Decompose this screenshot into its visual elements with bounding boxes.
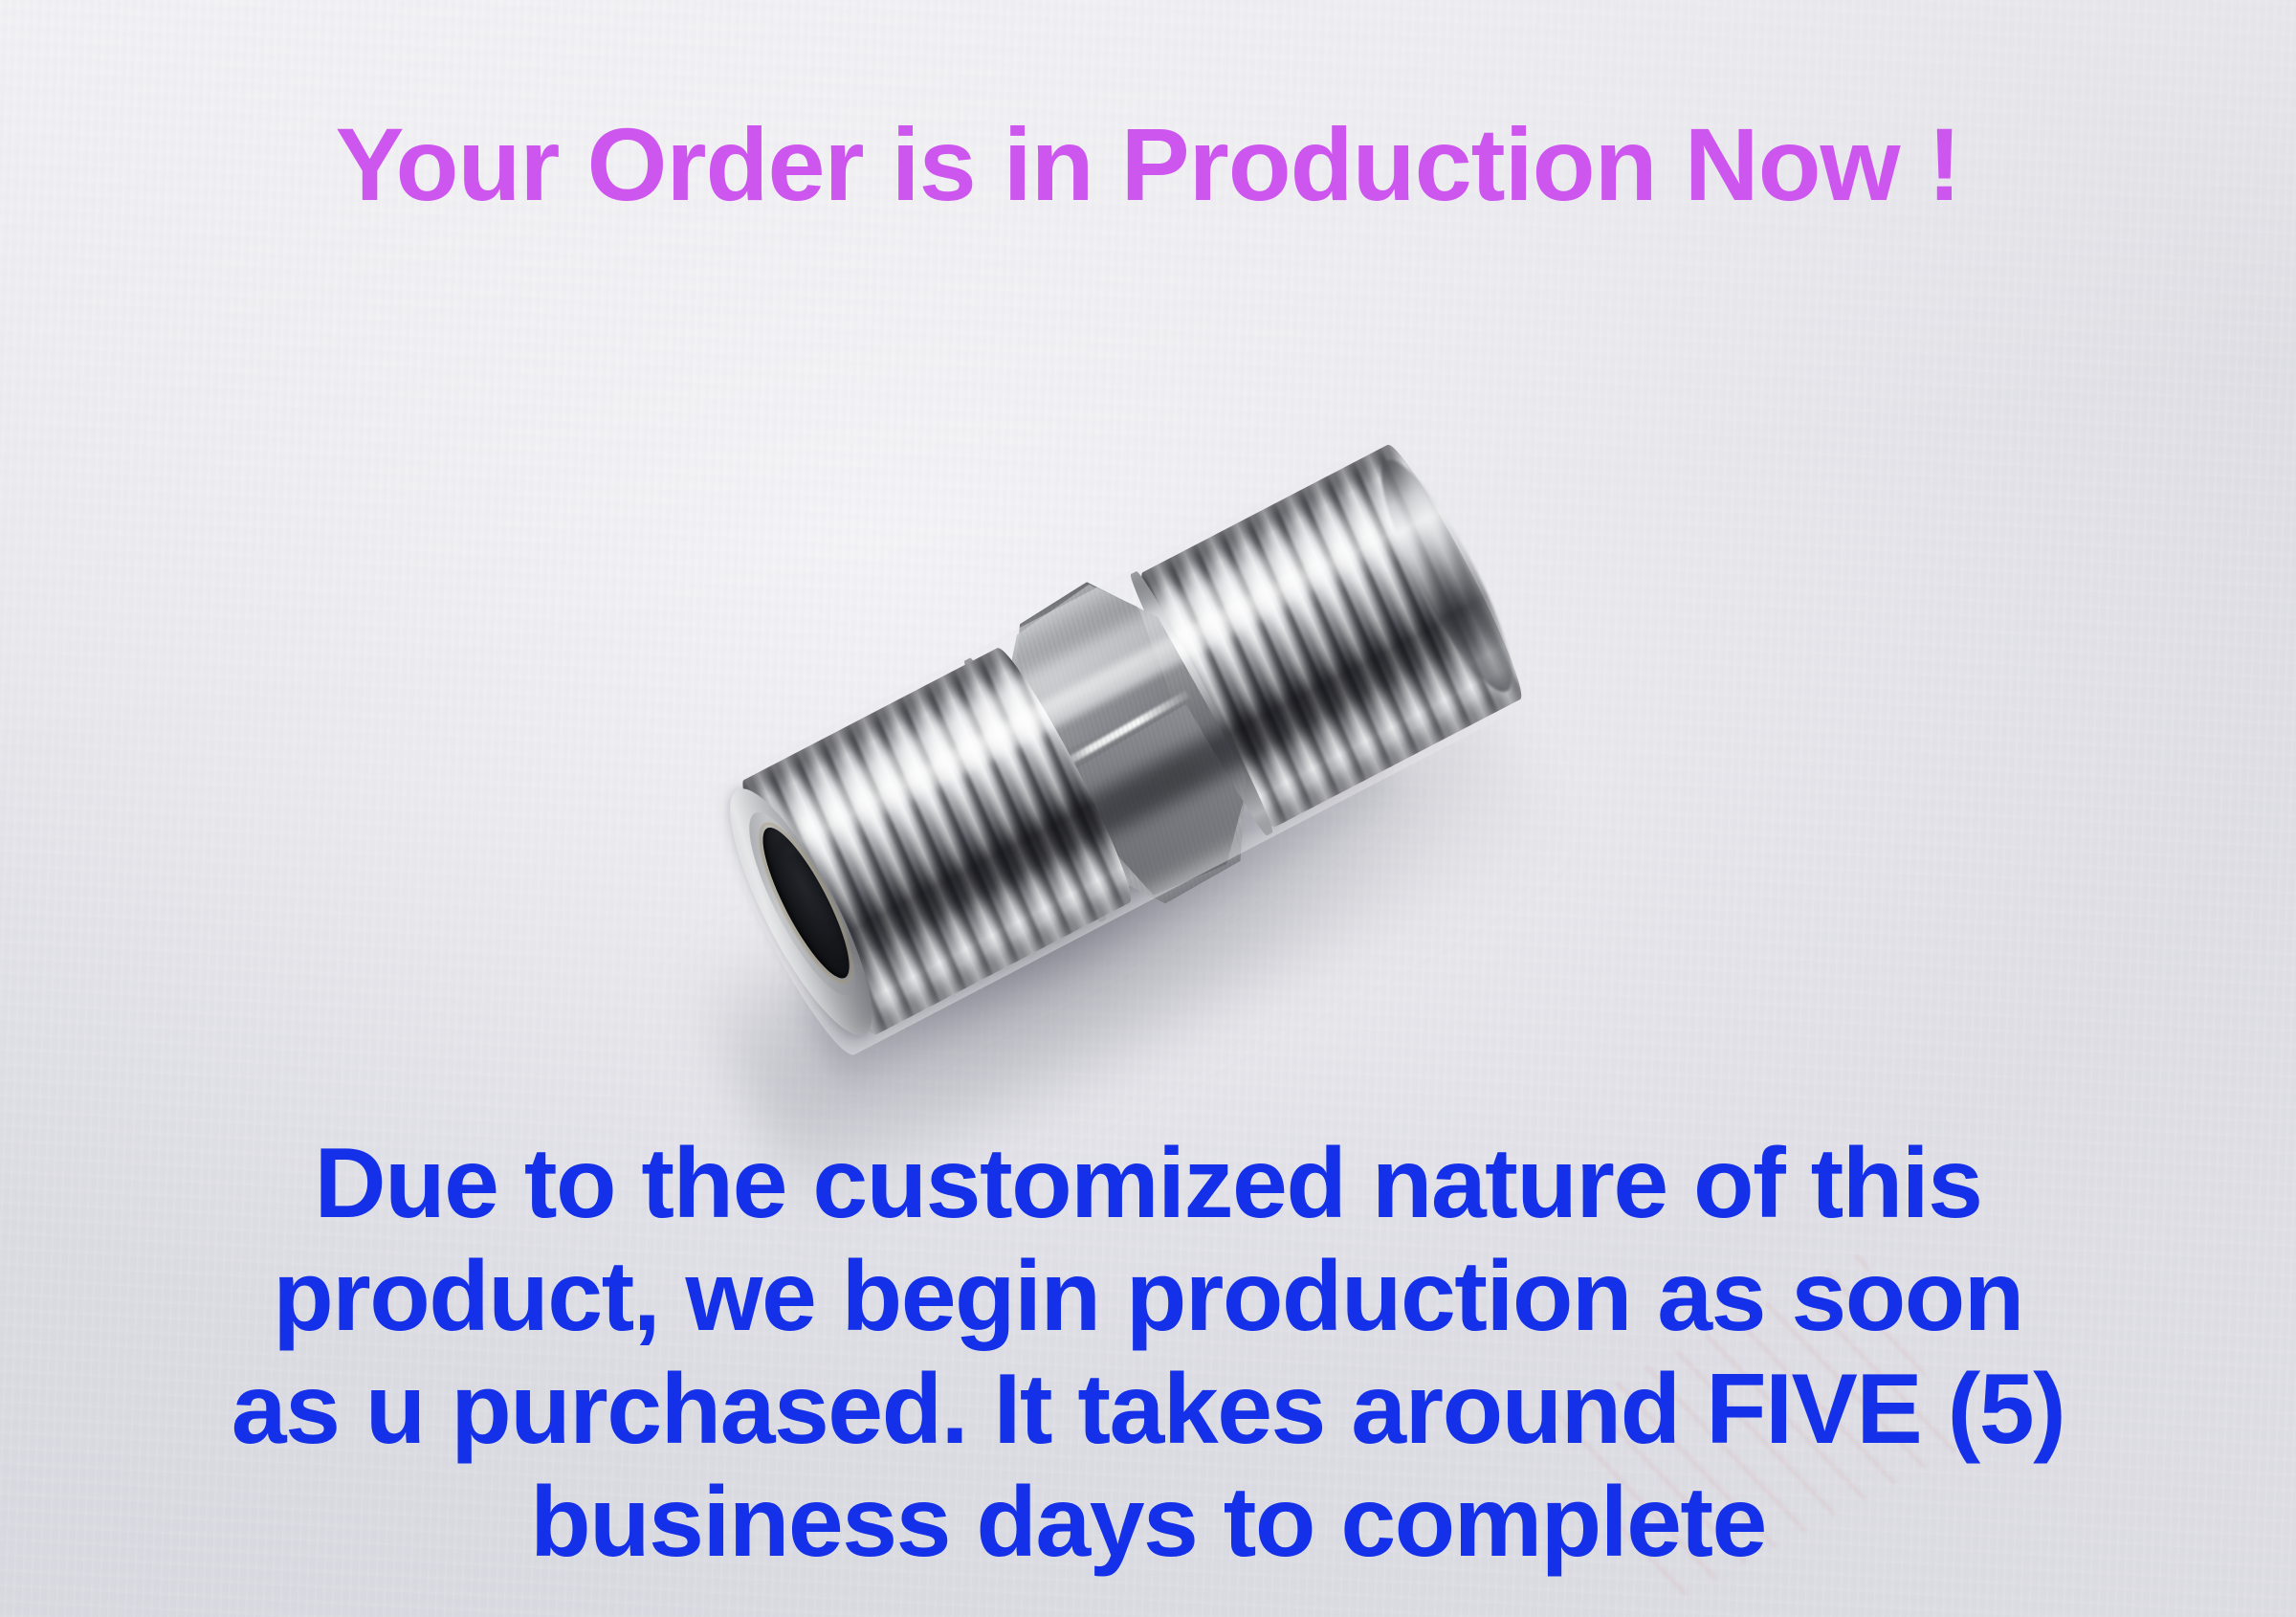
headline-text: Your Order is in Production Now ! (0, 113, 2296, 216)
body-copy-line-2: product, we begin production as soon (0, 1240, 2296, 1353)
body-copy-line-3: as u purchased. It takes around FIVE (5) (0, 1353, 2296, 1466)
body-copy-line-1: Due to the customized nature of this (0, 1127, 2296, 1240)
body-copy: Due to the customized nature of this pro… (0, 1127, 2296, 1579)
body-copy-line-4: business days to complete (0, 1466, 2296, 1579)
product-photo (670, 459, 1607, 1129)
order-production-banner: Your Order is in Production Now ! (0, 0, 2296, 1617)
